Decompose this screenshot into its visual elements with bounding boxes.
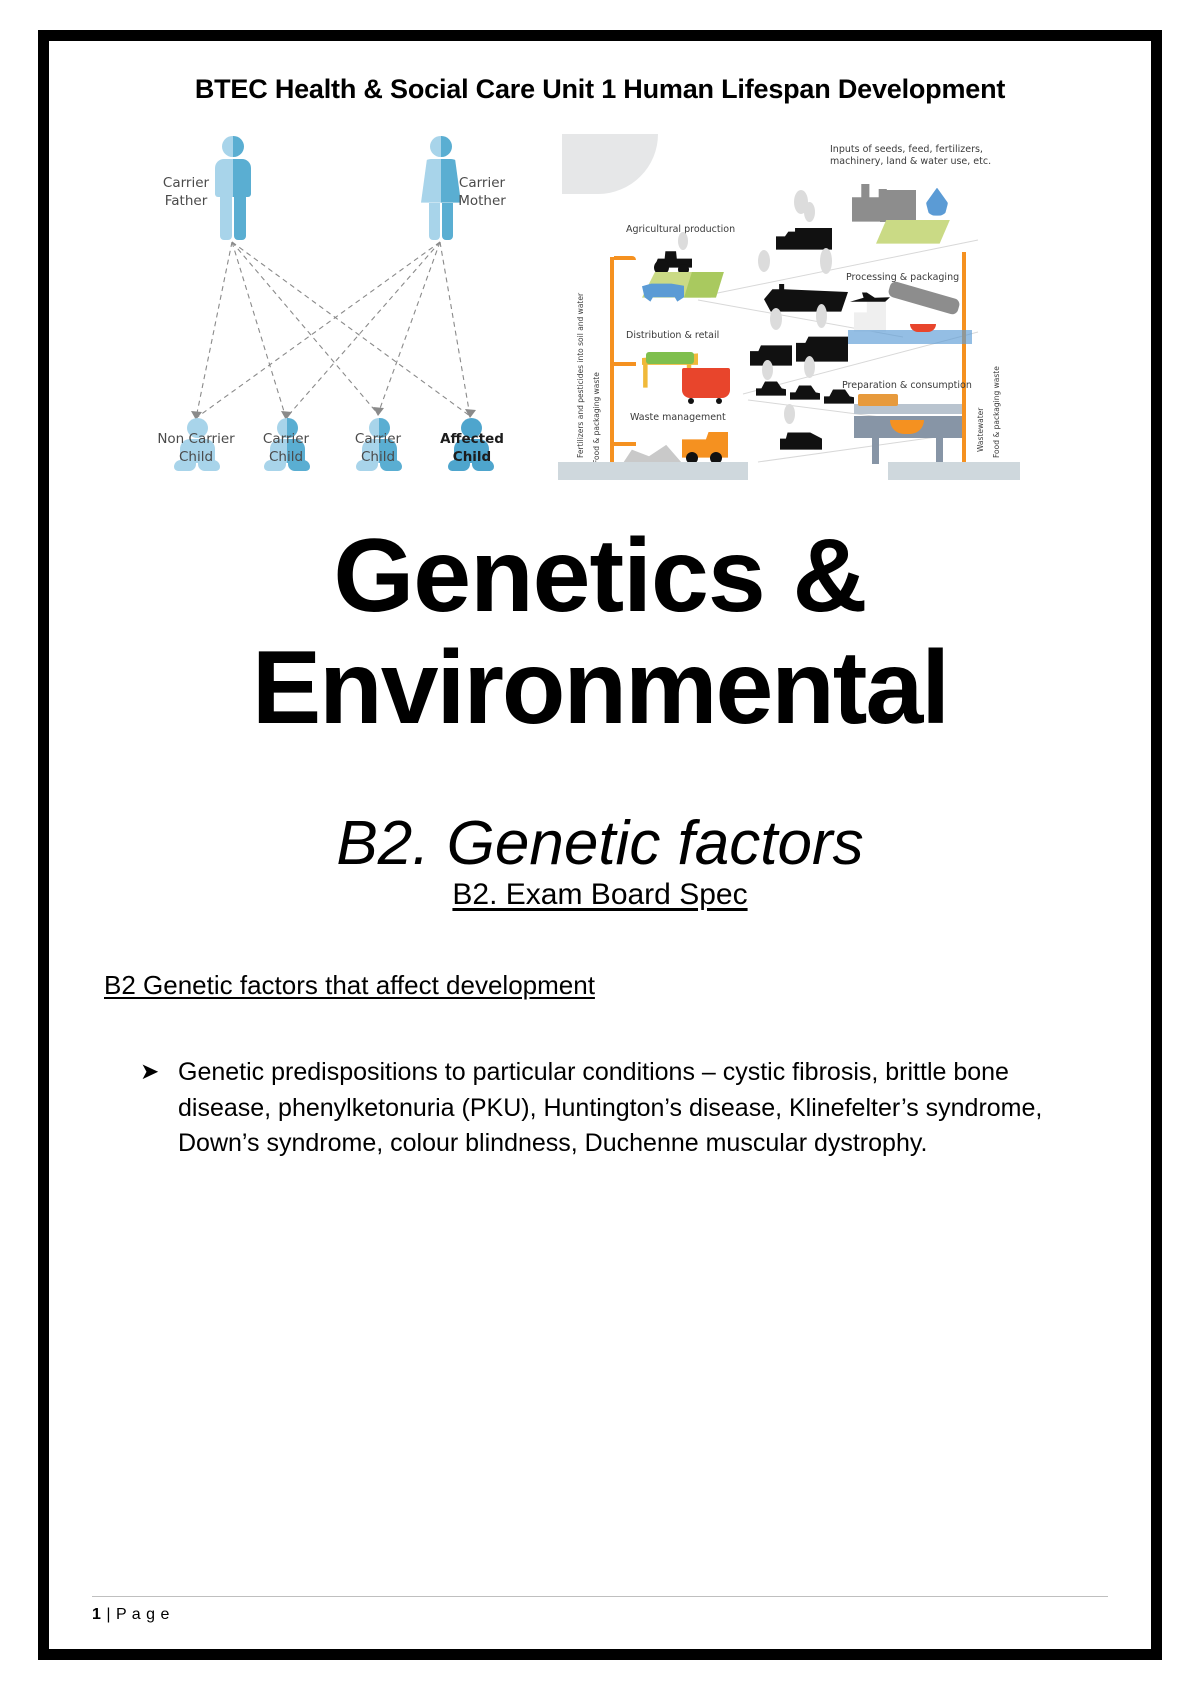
genetic-inheritance-figure: Carrier Father Carrier Mother	[140, 134, 540, 489]
dock-platform-icon	[848, 330, 972, 344]
section-heading: B2 Genetic factors that affect developme…	[104, 970, 595, 1001]
smoke-puff-5	[770, 308, 782, 330]
carrier-mother-label: Carrier Mother	[432, 174, 532, 210]
label-distribution-retail: Distribution & retail	[626, 330, 719, 343]
spec-heading: B2. Exam Board Spec	[452, 878, 747, 911]
field-icon-right	[876, 220, 950, 244]
smoke-puff-10	[678, 232, 688, 250]
smoke-puff-7	[762, 360, 773, 380]
footer-separator: |	[106, 1606, 111, 1623]
left-branch-3	[614, 442, 636, 446]
document-header-title: BTEC Health & Social Care Unit 1 Human L…	[92, 72, 1108, 108]
cart-wheel-right	[716, 398, 722, 404]
left-branch-1	[614, 256, 636, 260]
factory-icon-body	[880, 190, 916, 222]
page-title-line-1: Genetics &	[333, 518, 866, 634]
footer-page-word: P a g e	[116, 1606, 170, 1623]
child-label-carrier-1: Carrier Child	[238, 430, 334, 466]
smoke-puff-8	[804, 356, 815, 378]
bullet-list: ➤ Genetic predispositions to particular …	[92, 1055, 1108, 1162]
smoke-puff-4	[820, 248, 832, 274]
litter-band-left	[558, 462, 748, 480]
label-vertical-wastewater: Wastewater	[976, 352, 986, 452]
groceries-icon	[858, 394, 898, 406]
list-item: ➤ Genetic predispositions to particular …	[140, 1055, 1050, 1162]
chair-left-icon	[872, 428, 879, 464]
food-system-figure: Inputs of seeds, feed, fertilizers, mach…	[558, 132, 1020, 480]
page-title: Genetics & Environmental	[92, 520, 1108, 745]
shopping-cart-icon	[682, 368, 730, 398]
document-page: BTEC Health & Social Care Unit 1 Human L…	[0, 0, 1200, 1698]
label-preparation-consumption: Preparation & consumption	[842, 380, 972, 393]
child-label-carrier-2: Carrier Child	[330, 430, 426, 466]
child-label-affected: Affected Child	[424, 430, 520, 466]
footer-page-label: 1 | P a g e	[92, 1597, 1108, 1624]
litter-band-right	[888, 462, 1020, 480]
page-title-line-2: Environmental	[92, 632, 1108, 744]
label-processing-packaging: Processing & packaging	[846, 272, 959, 285]
dock-boat-icon	[910, 324, 936, 332]
smoke-puff-3	[758, 250, 770, 272]
label-waste-management: Waste management	[630, 412, 726, 425]
label-inputs: Inputs of seeds, feed, fertilizers, mach…	[830, 144, 991, 170]
smoke-puff-9	[784, 404, 795, 424]
chair-right-icon	[936, 428, 943, 464]
page-footer: 1 | P a g e	[92, 1596, 1108, 1624]
label-vertical-food-waste-right: Food & packaging waste	[992, 332, 1002, 458]
list-item-text: Genetic predispositions to particular co…	[178, 1058, 1042, 1157]
cart-wheel-left	[688, 398, 694, 404]
bullet-arrow-icon: ➤	[140, 1055, 159, 1088]
footer-page-number: 1	[92, 1606, 101, 1623]
label-vertical-food-waste-left: Food & packaging waste	[592, 344, 602, 464]
child-label-non-carrier: Non Carrier Child	[148, 430, 244, 466]
smoke-puff-2	[804, 202, 815, 222]
page-subtitle: B2. Genetic factors	[92, 810, 1108, 878]
carrier-father-label: Carrier Father	[140, 174, 232, 210]
right-flow-arrow	[962, 252, 966, 464]
figures-row: Carrier Father Carrier Mother	[92, 126, 1108, 486]
market-produce-icon	[646, 352, 694, 364]
smoke-puff-6	[816, 304, 827, 328]
left-branch-2	[614, 362, 636, 366]
page-content: BTEC Health & Social Care Unit 1 Human L…	[56, 48, 1144, 1642]
label-vertical-fertilizers: Fertilizers and pesticides into soil and…	[576, 268, 586, 458]
